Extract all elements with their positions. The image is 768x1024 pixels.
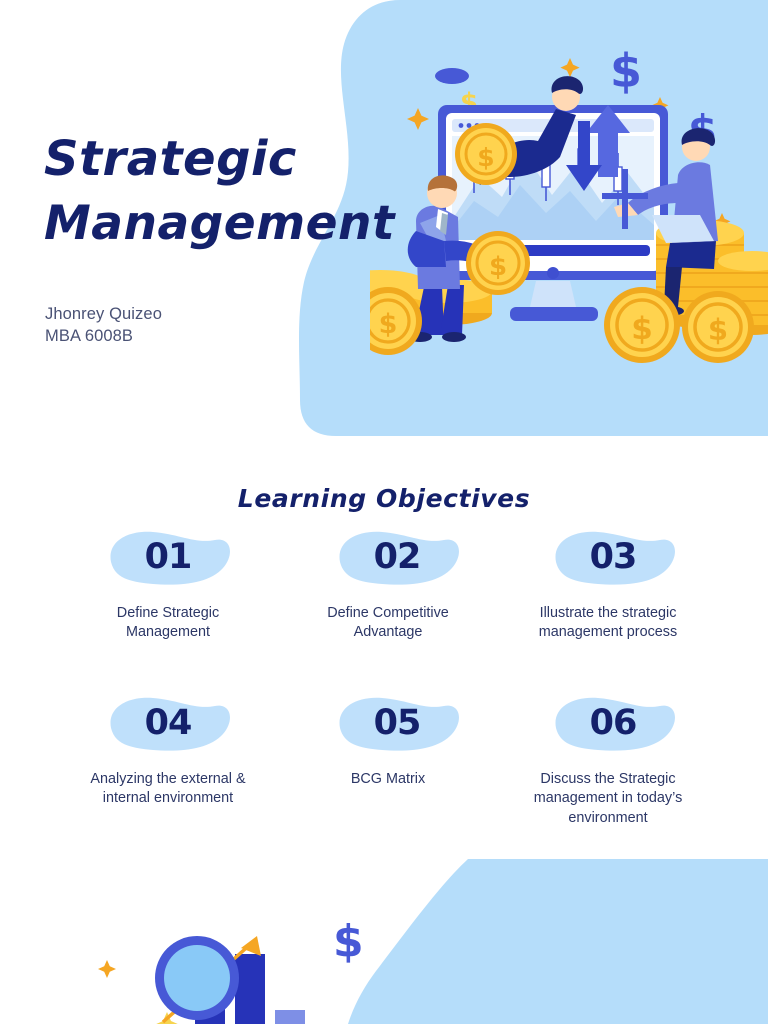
author-name: Jhonrey Quizeo <box>45 303 162 325</box>
objective-text: Analyzing the external & internal enviro… <box>81 770 256 808</box>
growth-chart-illustration: $ $ <box>85 904 385 1024</box>
objective-text: Illustrate the strategic management proc… <box>521 604 696 642</box>
objective-badge: 01 <box>103 524 233 590</box>
objectives-grid: 01 Define Strategic Management 02 Define… <box>58 524 718 828</box>
objective-item-04: 04 Analyzing the external & internal env… <box>58 690 278 827</box>
svg-text:$: $ <box>477 143 494 172</box>
title-line-1: Strategic <box>44 130 374 189</box>
objective-text: Define Strategic Management <box>81 604 256 642</box>
svg-text:$: $ <box>379 309 398 340</box>
objective-badge: 06 <box>548 690 678 756</box>
objective-badge: 03 <box>548 524 678 590</box>
objective-text: BCG Matrix <box>351 770 425 789</box>
course-code: MBA 6008B <box>45 325 162 347</box>
objective-number: 04 <box>145 703 192 743</box>
svg-text:$: $ <box>708 313 728 347</box>
objective-item-02: 02 Define Competitive Advantage <box>278 524 498 642</box>
objective-item-01: 01 Define Strategic Management <box>58 524 278 642</box>
objective-number: 06 <box>590 703 637 743</box>
objective-item-06: 06 Discuss the Strategic management in t… <box>498 690 718 827</box>
objective-badge: 05 <box>332 690 462 756</box>
objective-number: 01 <box>145 537 192 577</box>
hero-section: $ $ $ <box>0 0 768 440</box>
author-block: Jhonrey Quizeo MBA 6008B <box>45 303 162 348</box>
objective-text: Discuss the Strategic management in toda… <box>521 770 696 827</box>
footer-banner-shape <box>348 859 768 1024</box>
svg-text:$: $ <box>333 916 364 967</box>
footer-section: $ $ STRATEGIC MANAGEMENT <box>0 854 768 1024</box>
svg-text:$: $ <box>610 45 642 98</box>
title-line-2: Management <box>44 195 374 252</box>
objective-badge: 02 <box>332 524 462 590</box>
slide-page: $ $ $ <box>0 0 768 1024</box>
business-growth-illustration: $ $ $ <box>370 45 768 365</box>
objective-badge: 04 <box>103 690 233 756</box>
objectives-heading: Learning Objectives <box>0 484 768 513</box>
page-title: Strategic Management <box>44 130 374 252</box>
objective-number: 02 <box>374 537 421 577</box>
objective-number: 05 <box>374 703 421 743</box>
objective-number: 03 <box>590 537 637 577</box>
objective-item-05: 05 BCG Matrix <box>278 690 498 827</box>
objective-item-03: 03 Illustrate the strategic management p… <box>498 524 718 642</box>
svg-text:$: $ <box>631 311 653 347</box>
objective-text: Define Competitive Advantage <box>301 604 476 642</box>
svg-text:$: $ <box>489 252 507 282</box>
